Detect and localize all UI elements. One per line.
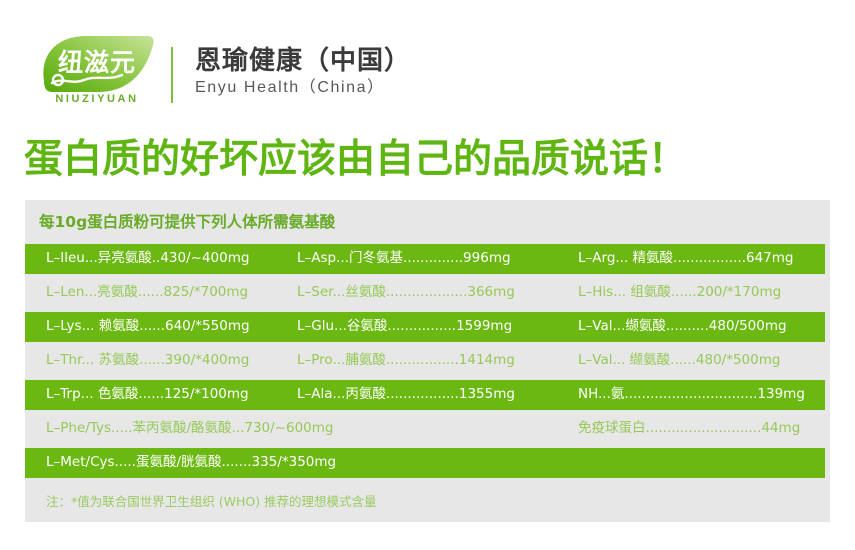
table-row: L–Lys... 赖氨酸......640/*550mg L–Glu...谷氨酸…: [25, 312, 825, 342]
amino-acid-panel: 每10g蛋白质粉可提供下列人体所需氨基酸 L–Ileu...异亮氨酸..430/…: [25, 200, 830, 522]
table-row: L–Met/Cys.....蛋氨酸/胱氨酸.......335/*350mg: [25, 448, 825, 478]
table-cell: L–Val...缬氨酸..........480/500mg: [578, 312, 825, 342]
brand-name-en: Enyu Health（China）: [195, 78, 411, 99]
header-divider: [171, 47, 173, 103]
table-cell: L–Len...亮氨酸......825/*700mg: [25, 278, 297, 308]
table-row: L–Len...亮氨酸......825/*700mg L–Ser...丝氨酸.…: [25, 278, 825, 308]
brand-logo: 纽滋元 NIUZIYUAN: [38, 33, 156, 117]
table-cell: L–Arg... 精氨酸.................647mg: [578, 244, 825, 274]
table-cell: L–His... 组氨酸......200/*170mg: [578, 278, 825, 308]
table-row: L–Ileu...异亮氨酸..430/~400mg L–Asp...门冬氨基..…: [25, 244, 825, 274]
table-row: L–Thr... 苏氨酸......390/*400mg L–Pro...脯氨酸…: [25, 346, 825, 376]
logo-latin-text: NIUZIYUAN: [38, 93, 156, 105]
table-footnote: 注：*值为联合国世界卫生组织 (WHO) 推荐的理想模式含量: [25, 482, 830, 522]
table-row: L–Phe/Tys.....苯丙氨酸/酪氨酸...730/~600mg 免疫球蛋…: [25, 414, 825, 444]
table-cell: L–Asp...门冬氨基..............996mg: [297, 244, 578, 274]
table-cell: L–Ileu...异亮氨酸..430/~400mg: [25, 244, 297, 274]
page-header: 纽滋元 NIUZIYUAN 恩瑜健康（中国） Enyu Health（China…: [38, 32, 411, 118]
logo-wordmark: 纽滋元: [38, 33, 156, 95]
table-cell: L–Phe/Tys.....苯丙氨酸/酪氨酸...730/~600mg: [25, 414, 578, 444]
brand-name-cn: 恩瑜健康（中国）: [195, 46, 411, 76]
table-cell: NH...氨...............................139…: [578, 380, 825, 410]
table-cell: L–Val... 缬氨酸......480/*500mg: [578, 346, 825, 376]
table-cell: L–Pro...脯氨酸.................1414mg: [297, 346, 578, 376]
table-cell: L–Glu...谷氨酸................1599mg: [297, 312, 578, 342]
table-cell: L–Trp... 色氨酸......125/*100mg: [25, 380, 297, 410]
table-cell: L–Ala...丙氨酸.................1355mg: [297, 380, 578, 410]
brand-titles: 恩瑜健康（中国） Enyu Health（China）: [195, 46, 411, 105]
panel-title: 每10g蛋白质粉可提供下列人体所需氨基酸: [25, 200, 830, 244]
table-cell: L–Ser...丝氨酸...................366mg: [297, 278, 578, 308]
page-headline: 蛋白质的好坏应该由自己的品质说话！: [24, 128, 836, 184]
table-cell: 免疫球蛋白...........................44mg: [578, 414, 825, 444]
table-cell: L–Met/Cys.....蛋氨酸/胱氨酸.......335/*350mg: [25, 448, 825, 478]
table-row: L–Trp... 色氨酸......125/*100mg L–Ala...丙氨酸…: [25, 380, 825, 410]
table-cell: L–Thr... 苏氨酸......390/*400mg: [25, 346, 297, 376]
table-cell: L–Lys... 赖氨酸......640/*550mg: [25, 312, 297, 342]
